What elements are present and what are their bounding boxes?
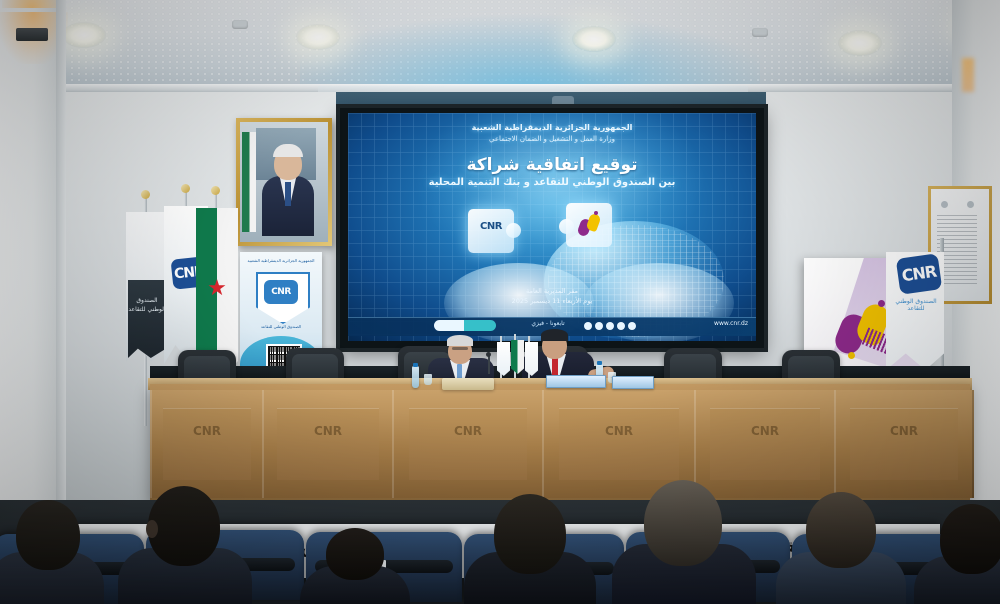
slide-republic-header: الجمهورية الجزائرية الديمقراطية الشعبية <box>348 123 756 132</box>
slide-title: توقيع اتفاقية شراكة <box>348 155 756 175</box>
projection-screen: الجمهورية الجزائرية الديمقراطية الشعبية … <box>348 113 756 341</box>
presidential-portrait <box>240 122 328 242</box>
desk-module-6: CNR <box>834 390 974 498</box>
slide-follow-label: تابعونا - فيزي <box>508 320 588 327</box>
right-wall-sconce-glow <box>962 58 974 92</box>
puzzle-piece-bdl <box>566 203 612 247</box>
wall-sconce <box>16 28 48 41</box>
microphone-head <box>486 352 491 357</box>
desk-panel <box>850 408 959 480</box>
puzzle-piece-cnr: CNR <box>468 209 514 253</box>
bdl-dot-lower <box>848 352 855 359</box>
portrait-flag <box>242 132 256 232</box>
bdl-dot-upper <box>878 300 885 307</box>
water-bottle-1[interactable] <box>412 366 419 388</box>
left-pillar-edge <box>56 0 66 512</box>
linkedin-icon <box>628 322 636 330</box>
desk-flag-bdl <box>525 342 538 376</box>
left-pillar <box>0 0 60 512</box>
desk-panel <box>163 408 251 480</box>
downlight-3 <box>572 26 616 52</box>
desk-panel <box>277 408 379 480</box>
ceiling-vent-2 <box>752 28 768 37</box>
instagram-icon <box>606 322 614 330</box>
downlight-4 <box>838 30 882 56</box>
drinking-glass-1[interactable] <box>424 374 432 385</box>
audience-7-head <box>326 528 384 580</box>
audience-5-head <box>806 492 876 568</box>
ceiling-vent-1 <box>232 20 248 29</box>
microphone-stem[interactable] <box>488 356 490 374</box>
youtube-icon <box>617 322 625 330</box>
audience-4-head <box>644 480 722 566</box>
speaker-cnr-glasses <box>452 347 468 350</box>
puzzle-knob-right <box>506 223 521 238</box>
conference-room-photo: الجمهورية الجزائرية الديمقراطية الشعبية … <box>0 0 1000 604</box>
document-folder[interactable] <box>442 378 494 390</box>
desk-logo-2: CNR <box>264 424 392 438</box>
poster-cnr-logo: CNR <box>264 280 298 304</box>
audience-2-head <box>148 486 220 566</box>
desk-module-2: CNR <box>262 390 394 498</box>
slide-location: مقر المديرية العامة <box>348 287 756 295</box>
puzzle-knob-left <box>559 219 574 234</box>
desk-panel <box>409 408 527 480</box>
algeria-star-icon: ★ <box>206 278 228 300</box>
desk-logo-6: CNR <box>836 424 972 438</box>
audience-2-ear <box>146 520 158 538</box>
puzzle-cnr-logo: CNR <box>477 221 505 239</box>
slide-footer-pill <box>434 320 496 331</box>
audience-1-head <box>16 500 80 570</box>
desk-logo-4: CNR <box>544 424 694 438</box>
desk-panel <box>710 408 820 480</box>
desk-flag-cnr <box>497 342 510 376</box>
flagpole-finial-3 <box>211 186 220 195</box>
certificate-seal-left <box>941 201 948 208</box>
flag-cnr-dark-caption: الصندوق الوطني للتقاعد <box>128 296 166 314</box>
desk-logo-5: CNR <box>696 424 834 438</box>
flag-cnr-right-caption: الصندوق الوطني للتقاعد <box>890 298 942 312</box>
desk-logo-3: CNR <box>394 424 542 438</box>
twitter-icon <box>595 322 603 330</box>
desk-module-1: CNR <box>150 390 264 498</box>
desk-panel <box>559 408 679 480</box>
sconce-uplight-glow <box>2 0 62 8</box>
desk-module-3: CNR <box>392 390 544 498</box>
desk-module-5: CNR <box>694 390 836 498</box>
ceiling-blue-glow <box>300 0 760 92</box>
bottle-cap <box>597 361 602 365</box>
flagpole-finial-1 <box>141 190 150 199</box>
bdl-hand-yellow <box>585 213 601 233</box>
facebook-icon <box>584 322 592 330</box>
poster-subtitle: الصندوق الوطني للتقاعد <box>240 324 322 329</box>
presidential-portrait-frame <box>236 118 332 246</box>
audience-6-head <box>940 504 1000 574</box>
downlight-2 <box>296 24 340 50</box>
slide-website: www.cnr.dz <box>678 320 748 327</box>
slide-ministry: وزارة العمل و التشغيل و الضمان الاجتماعي <box>348 135 756 143</box>
portrait-tie <box>285 182 291 206</box>
slide-subtitle: بين الصندوق الوطني للتقاعد و بنك التنمية… <box>348 177 756 188</box>
desk-logo-1: CNR <box>152 424 262 438</box>
flag-cnr-dark-panel <box>128 280 166 358</box>
nameplate-bdl <box>546 375 606 388</box>
speaker-bdl-hair <box>541 329 568 341</box>
certificate-seal-right <box>967 201 974 208</box>
flagpole-finial-2 <box>181 184 190 193</box>
flag-cnr-right-logo: CNR <box>896 253 943 294</box>
poster-header-text: الجمهورية الجزائرية الديمقراطية الشعبية <box>240 258 322 263</box>
bdl-dot-top <box>594 211 598 215</box>
bottle-cap <box>413 363 418 367</box>
puzzle-bdl-logo <box>577 212 601 238</box>
speaker-cnr-hair <box>447 335 473 346</box>
nameplate-cnr <box>612 376 654 389</box>
desk-flag-algeria <box>511 340 524 374</box>
slide-date: يوم الأربعاء 11 ديسمبر 2025 <box>348 297 756 305</box>
audience-3-head <box>494 494 566 574</box>
downlight-1 <box>62 22 106 48</box>
